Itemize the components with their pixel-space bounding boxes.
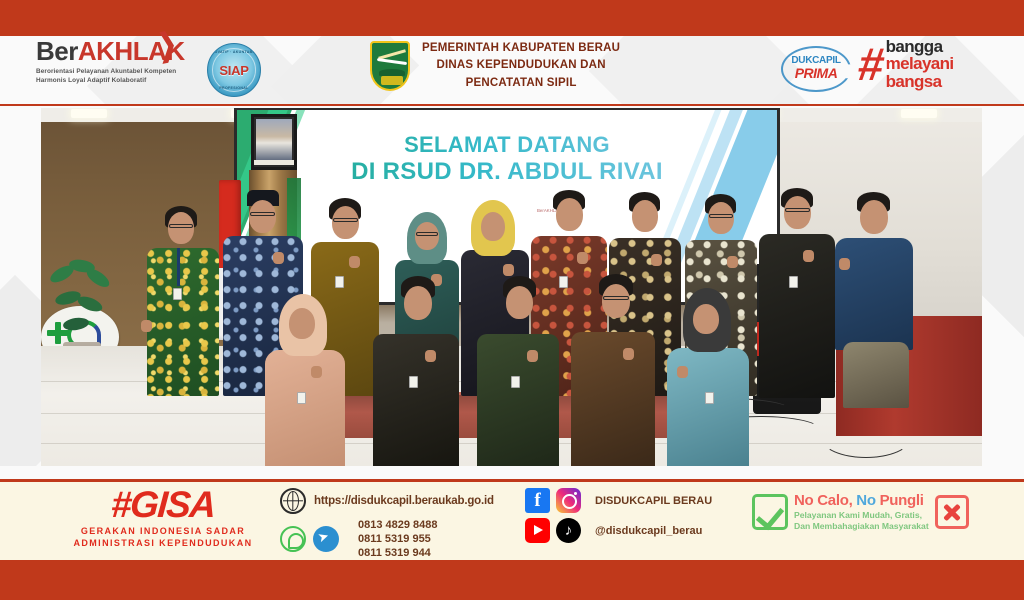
group-photo: SELAMAT DATANG DI RSUD DR. ABDUL RIVAI B… xyxy=(41,108,982,466)
phone-number-1: 0813 4829 8488 xyxy=(358,518,438,532)
slide-title-line-2: DI RSUD DR. ABDUL RIVAI xyxy=(237,158,777,186)
no-calo-title: No Calo, No Pungli xyxy=(794,492,929,510)
siap-ring-bottom-text: PROFESIONAL xyxy=(208,86,260,90)
gisa-wordmark: #GISA xyxy=(47,486,280,523)
institution-title: PEMERINTAH KABUPATEN BERAU DINAS KEPENDU… xyxy=(422,40,620,92)
youtube-icon[interactable] xyxy=(525,518,550,543)
person-back-1 xyxy=(143,204,221,394)
social-handle-1: DISDUKCAPIL BERAU xyxy=(595,495,712,507)
wall-portrait-frame xyxy=(251,114,297,170)
person-front-4 xyxy=(569,274,657,466)
website-url[interactable]: https://disdukcapil.beraukab.go.id xyxy=(314,495,494,507)
person-front-1 xyxy=(263,294,347,466)
whatsapp-icon[interactable] xyxy=(280,526,306,552)
no-calo-title-part1: No Calo, xyxy=(794,492,852,509)
check-icon xyxy=(752,494,788,530)
institution-line-1: PEMERINTAH KABUPATEN BERAU xyxy=(422,40,620,57)
ceiling-light xyxy=(901,109,937,118)
facebook-icon[interactable]: f xyxy=(525,488,550,513)
header-divider xyxy=(0,104,1024,106)
person-front-2 xyxy=(371,276,461,466)
prima-label: PRIMA xyxy=(785,66,847,80)
gisa-subtitle-1: GERAKAN INDONESIA SADAR xyxy=(48,525,278,537)
person-front-3 xyxy=(475,276,561,466)
social-row-2: ♪ @disdukcapil_berau xyxy=(525,518,712,543)
siap-ring-top-text: INOVATIF · AKUNTABEL xyxy=(208,50,260,54)
no-calo-title-part3: Pungli xyxy=(880,492,924,509)
siap-badge-word: SIAP xyxy=(219,63,248,78)
institution-line-2: DINAS KEPENDUDUKAN DAN xyxy=(422,57,620,74)
gisa-subtitle-2: ADMINISTRASI KEPENDUDUKAN xyxy=(48,537,278,549)
phone-numbers: 0813 4829 8488 0811 5319 955 0811 5319 9… xyxy=(358,518,438,560)
bangga-line-1: bangga xyxy=(886,38,954,55)
person-back-10 xyxy=(833,192,915,408)
chevron-right-icon: ❯ xyxy=(156,25,178,65)
no-calo-sub-2: Dan Membahagiakan Masyarakat xyxy=(794,521,929,532)
bangga-melayani-bangsa-logo: # bangga melayani bangsa xyxy=(858,38,954,90)
bangga-line-2: melayani xyxy=(886,55,954,72)
siap-badge-icon: INOVATIF · AKUNTABEL SIAP PROFESIONAL xyxy=(207,43,261,97)
no-calo-title-part2: No xyxy=(852,492,879,509)
instagram-icon[interactable] xyxy=(556,488,581,513)
audio-cable xyxy=(821,418,911,458)
phone-number-3: 0811 5319 944 xyxy=(358,546,438,560)
berakhlak-tagline-line1: Berorientasi Pelayanan Akuntabel Kompete… xyxy=(36,67,206,76)
no-calo-sub-1: Pelayanan Kami Mudah, Gratis, xyxy=(794,510,929,521)
telegram-icon[interactable] xyxy=(313,526,339,552)
social-handle-2: @disdukcapil_berau xyxy=(595,525,702,537)
cross-icon xyxy=(935,495,969,529)
berau-regency-emblem-icon xyxy=(370,41,410,91)
top-accent-band xyxy=(0,0,1024,36)
hashtag-icon: # xyxy=(855,41,884,87)
person-front-5 xyxy=(665,288,751,466)
berakhlak-tagline: Berorientasi Pelayanan Akuntabel Kompete… xyxy=(36,67,206,86)
ceiling-light xyxy=(71,109,107,118)
phone-number-2: 0811 5319 955 xyxy=(358,532,438,546)
bangga-lines: bangga melayani bangsa xyxy=(886,38,954,90)
social-block: f DISDUKCAPIL BERAU ♪ @disdukcapil_berau xyxy=(525,488,712,548)
slide-welcome-title: SELAMAT DATANG DI RSUD DR. ABDUL RIVAI xyxy=(237,132,777,186)
phone-row: 0813 4829 8488 0811 5319 955 0811 5319 9… xyxy=(280,518,530,560)
website-row: https://disdukcapil.beraukab.go.id xyxy=(280,488,530,514)
photo-frame-area: SELAMAT DATANG DI RSUD DR. ABDUL RIVAI B… xyxy=(0,106,1024,468)
contact-block: https://disdukcapil.beraukab.go.id 0813 … xyxy=(280,486,530,560)
berakhlak-wordmark: BerAKHLAK xyxy=(36,38,206,64)
footer-gap xyxy=(0,466,1024,480)
bangga-line-3: bangsa xyxy=(886,73,954,90)
berakhlak-tagline-line2: Harmonis Loyal Adaptif Kolaboratif xyxy=(36,76,206,85)
social-row-1: f DISDUKCAPIL BERAU xyxy=(525,488,712,513)
slide-title-line-1: SELAMAT DATANG xyxy=(237,132,777,158)
person-back-9 xyxy=(757,188,837,396)
berakhlak-logo: BerAKHLAK Berorientasi Pelayanan Akuntab… xyxy=(36,38,206,86)
gisa-logo: #GISA GERAKAN INDONESIA SADAR ADMINISTRA… xyxy=(48,486,278,549)
no-calo-no-pungli-badge: No Calo, No Pungli Pelayanan Kami Mudah,… xyxy=(752,492,969,532)
tiktok-icon[interactable]: ♪ xyxy=(556,518,581,543)
dukcapil-prima-logo: DUKCAPIL PRIMA xyxy=(785,44,847,94)
bottom-accent-band xyxy=(0,563,1024,600)
institution-line-3: PENCATATAN SIPIL xyxy=(422,75,620,92)
no-calo-text: No Calo, No Pungli Pelayanan Kami Mudah,… xyxy=(794,492,929,532)
institution-header: PEMERINTAH KABUPATEN BERAU DINAS KEPENDU… xyxy=(370,40,620,92)
berakhlak-ber: Ber xyxy=(36,36,78,66)
globe-icon xyxy=(280,488,306,514)
